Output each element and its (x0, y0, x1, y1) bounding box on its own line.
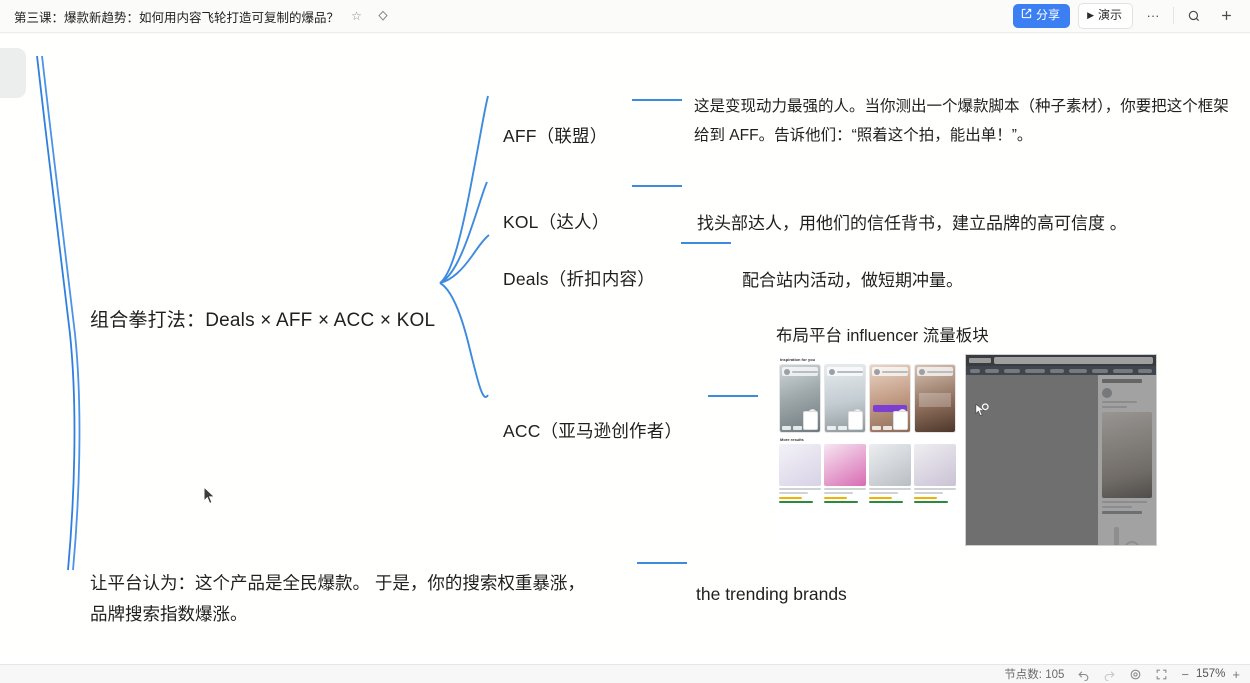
amazon-logo (969, 358, 991, 363)
toolbar-actions: 分享 ▶ 演示 ··· (1013, 3, 1238, 28)
product-result-row (776, 444, 962, 503)
amazon-content-area (966, 375, 1156, 545)
search-icon[interactable] (1182, 4, 1206, 28)
amazon-header (966, 355, 1156, 366)
zoom-out-button[interactable]: − (1181, 667, 1189, 682)
star-icon[interactable]: ☆ (348, 8, 365, 25)
undo-icon[interactable] (1077, 668, 1090, 681)
amazon-shop-by-interest-screenshot[interactable] (965, 354, 1157, 546)
amazon-side-pane (1098, 375, 1156, 545)
bottom-node-line-2: 品牌搜索指数爆涨。 (90, 599, 585, 630)
share-label: 分享 (1036, 8, 1060, 22)
product-result[interactable] (824, 444, 866, 503)
tile-actions (872, 420, 908, 430)
play-icon: ▶ (1087, 10, 1094, 21)
busy-cursor-icon (974, 403, 989, 418)
mindmap-node-deals[interactable]: Deals（折扣内容） (503, 266, 655, 291)
fit-screen-icon[interactable] (1155, 668, 1168, 681)
side-photo (1102, 412, 1152, 498)
mindmap-node-aff[interactable]: AFF（联盟） (503, 123, 607, 148)
inspire-subheading: More results (776, 433, 962, 444)
mindmap-node-influencer-caption[interactable]: 布局平台 influencer 流量板块 (776, 322, 989, 346)
node-count-label: 节点数: 105 (1004, 666, 1064, 682)
creator-avatar (1102, 388, 1112, 398)
zoom-level-label: 157% (1196, 668, 1225, 680)
tile-actions (782, 420, 818, 430)
mindmap-desc-deals[interactable]: 配合站内活动，做短期冲量。 (742, 266, 963, 295)
amazon-nav-bar (966, 366, 1156, 375)
product-illustration (1102, 519, 1152, 546)
add-icon[interactable] (1214, 4, 1238, 28)
tile-caption-bar (919, 393, 951, 407)
creator-badge (917, 367, 953, 376)
inspire-tile[interactable] (824, 364, 866, 433)
toolbar-divider (1173, 7, 1174, 24)
mindmap-root-node[interactable]: 组合拳打法：Deals × AFF × ACC × KOL (90, 305, 435, 332)
present-button[interactable]: ▶ 演示 (1078, 3, 1133, 28)
center-target-icon[interactable] (1129, 668, 1142, 681)
creator-badge (827, 367, 863, 376)
inspire-tile[interactable] (914, 364, 956, 433)
mindmap-desc-aff[interactable]: 这是变现动力最强的人。当你测出一个爆款脚本（种子素材），你要把这个框架给到 AF… (694, 92, 1242, 150)
share-icon (1021, 8, 1032, 22)
redo-icon[interactable] (1103, 668, 1116, 681)
zoom-in-button[interactable]: + (1232, 667, 1240, 682)
amazon-inspire-feed-screenshot[interactable]: Inspiration for you (776, 354, 962, 546)
inspire-tile-row (776, 364, 962, 433)
present-label: 演示 (1098, 8, 1122, 22)
creator-badge (782, 367, 818, 376)
mindmap-node-kol[interactable]: KOL（达人） (503, 209, 609, 234)
share-button[interactable]: 分享 (1013, 4, 1070, 27)
inspire-tile[interactable] (779, 364, 821, 433)
inspire-heading: Inspiration for you (776, 354, 962, 364)
more-options-icon[interactable]: ··· (1141, 4, 1165, 28)
status-bar: 节点数: 105 − 157% + (0, 664, 1250, 683)
creator-badge (872, 367, 908, 376)
document-title[interactable]: 第三课：爆款新趋势：如何用内容飞轮打造可复制的爆品？ (14, 7, 339, 26)
zoom-control: − 157% + (1181, 667, 1240, 682)
inspire-tile[interactable] (869, 364, 911, 433)
notification-icon[interactable] (374, 8, 391, 25)
tile-actions (827, 420, 863, 430)
mouse-cursor (203, 486, 216, 510)
mindmap-desc-kol[interactable]: 找头部达人，用他们的信任背书，建立品牌的高可信度 。 (697, 209, 1127, 238)
product-result[interactable] (914, 444, 956, 503)
mindmap-canvas[interactable]: 组合拳打法：Deals × AFF × ACC × KOL AFF（联盟） KO… (0, 34, 1250, 656)
product-result[interactable] (869, 444, 911, 503)
product-result[interactable] (779, 444, 821, 503)
mindmap-node-acc[interactable]: ACC（亚马逊创作者） (503, 418, 682, 443)
top-toolbar: 第三课：爆款新趋势：如何用内容飞轮打造可复制的爆品？ ☆ 分享 ▶ 演示 ··· (0, 0, 1250, 33)
amazon-main-pane (966, 375, 1098, 545)
mindmap-node-trending-brands[interactable]: the trending brands (696, 584, 847, 605)
mindmap-node-bottom[interactable]: 让平台认为：这个产品是全民爆款。 于是，你的搜索权重暴涨， 品牌搜索指数爆涨。 (90, 568, 585, 630)
amazon-search-input[interactable] (994, 357, 1153, 364)
bottom-node-line-1: 让平台认为：这个产品是全民爆款。 于是，你的搜索权重暴涨， (90, 568, 585, 599)
